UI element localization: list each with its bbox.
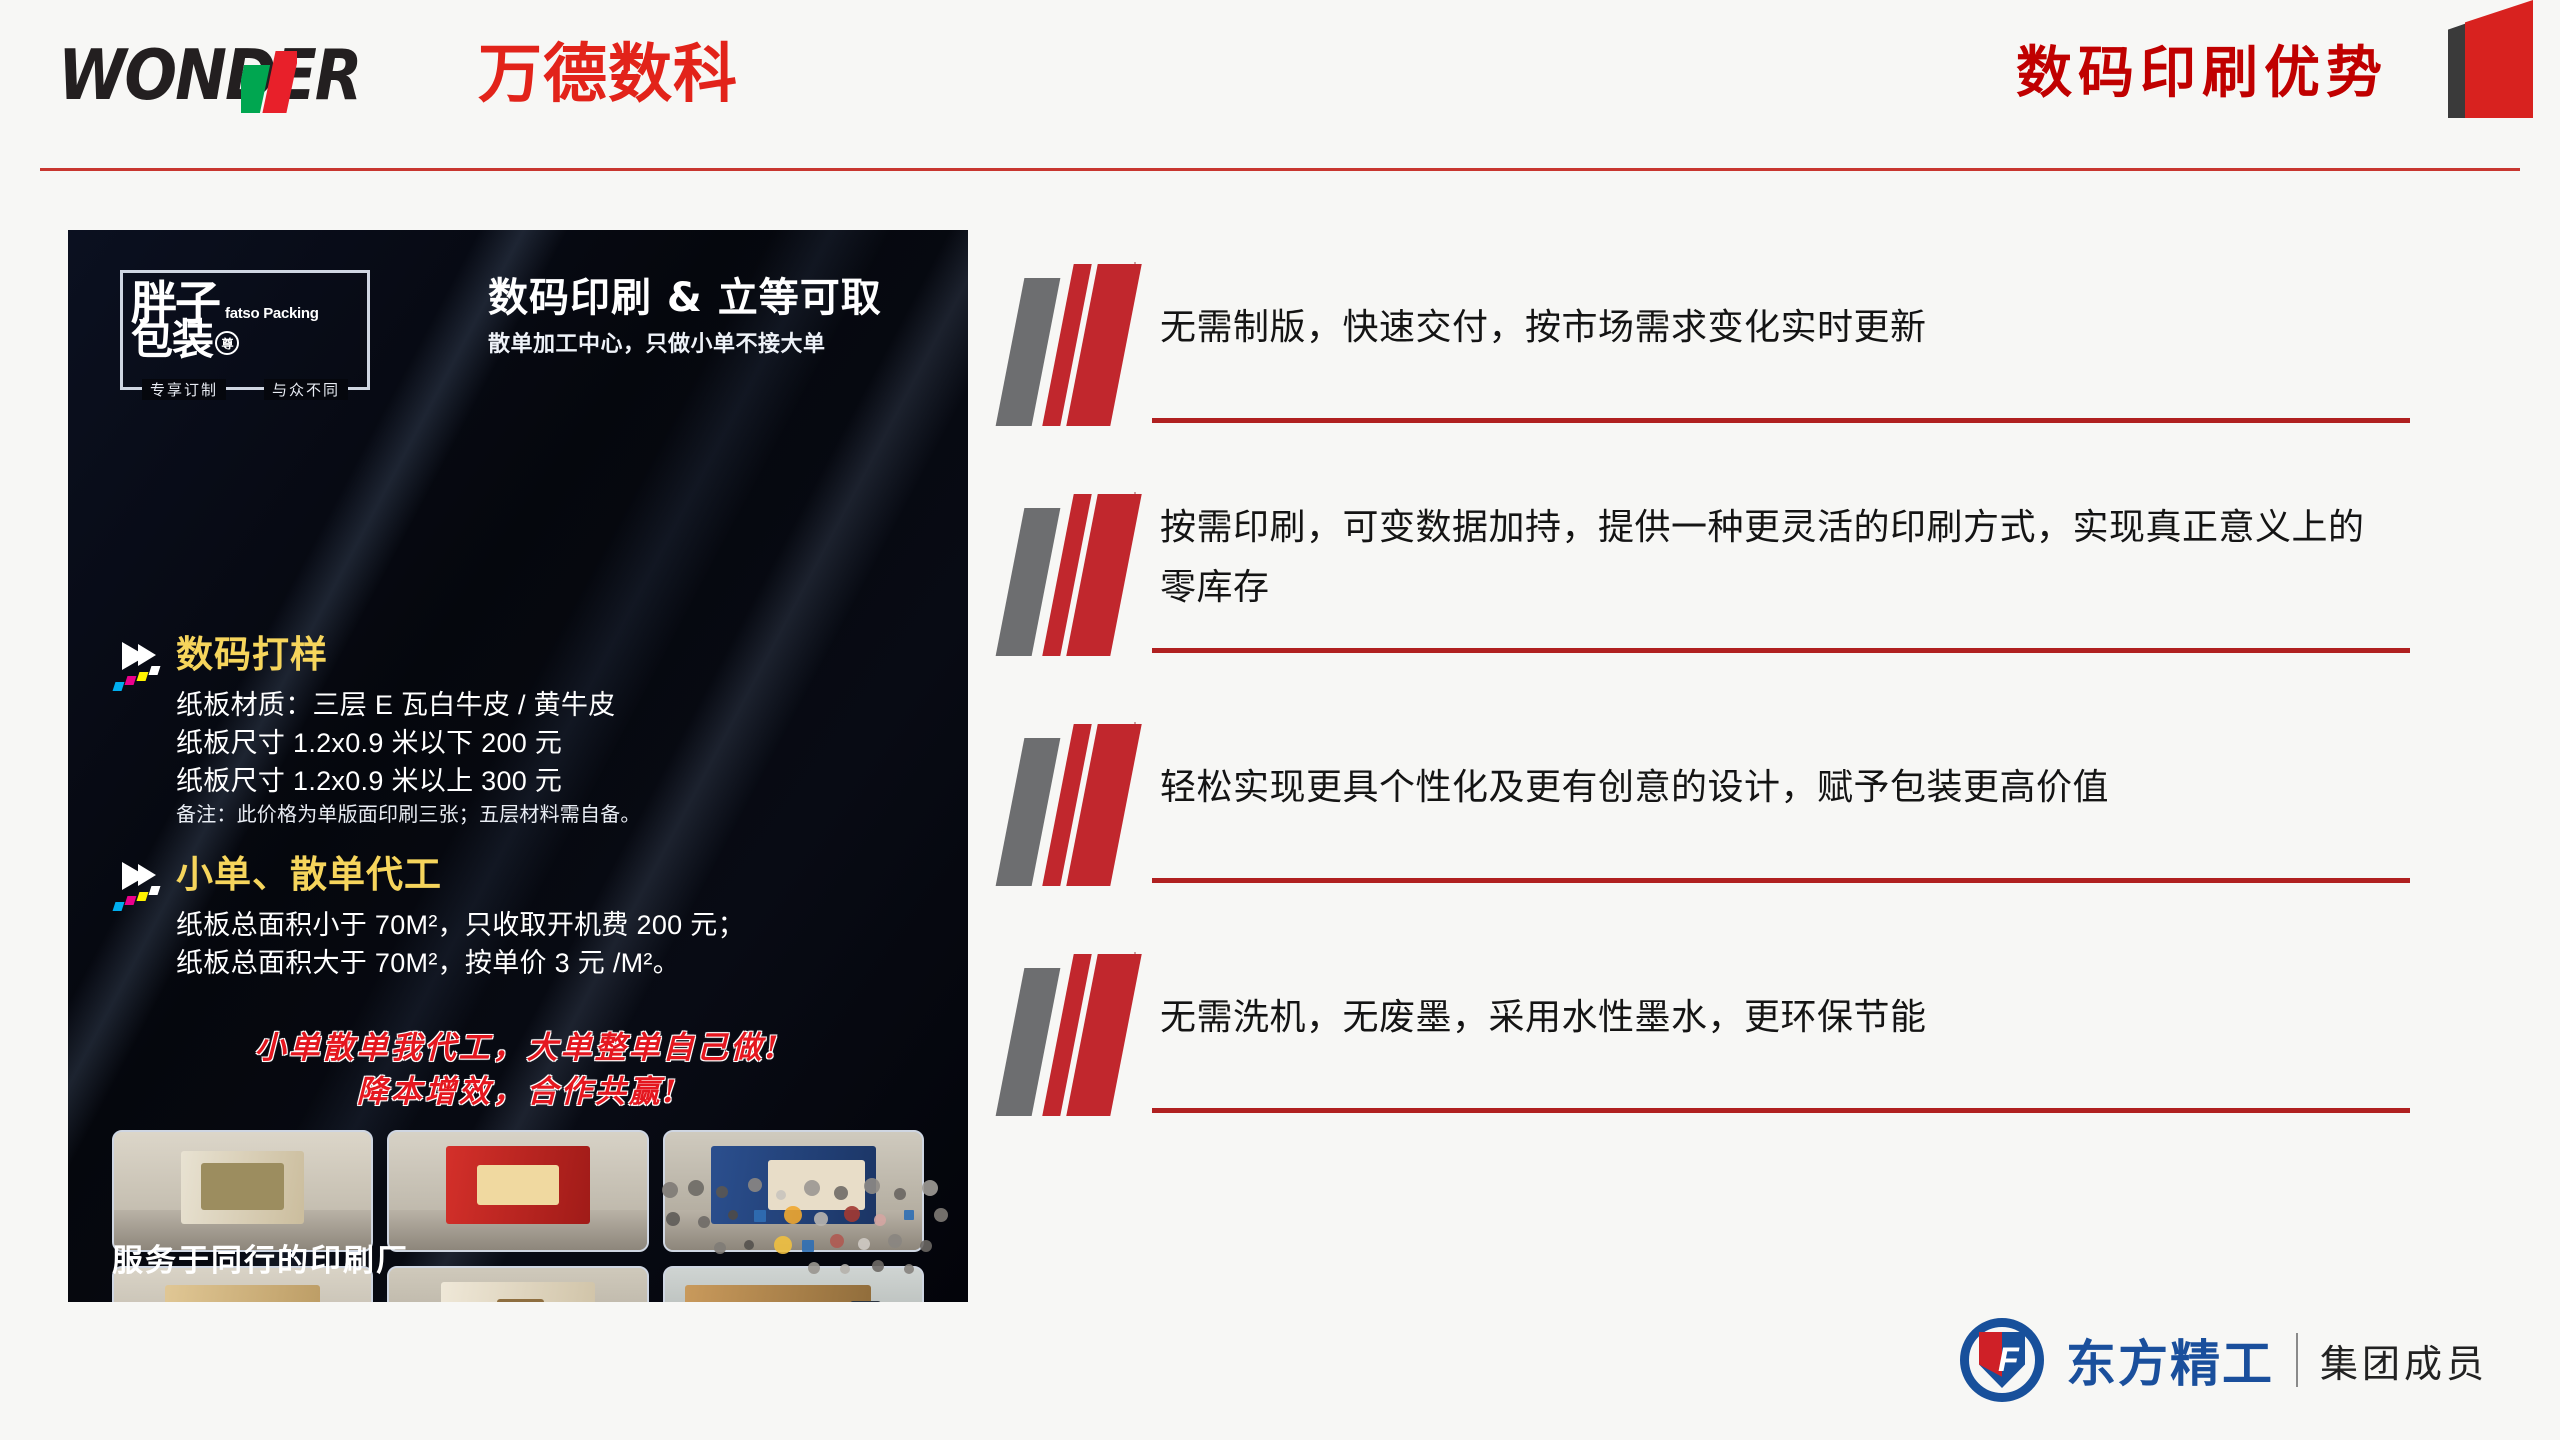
fatso-tagline-left: 专享订制 [142,379,226,400]
fatso-tagline-right: 与众不同 [264,379,348,400]
bullet-marker-icon-2 [1010,508,1150,658]
dot-white [149,666,161,675]
advantage-underline-4 [1152,1108,2410,1113]
fatso-logo-row-bottom: 包装尊 [131,317,239,363]
advantage-underline-2 [1152,648,2410,653]
poster-section-2-line-1: 纸板总面积小于 70M²，只收取开机费 200 元； [176,906,745,944]
dot-cyan [113,902,125,911]
arrow-chevron-inner [138,644,156,666]
header-divider [40,168,2520,171]
advantage-text-4: 无需洗机，无废墨，采用水性墨水，更环保节能 [1160,988,2400,1048]
fatso-logo-cn-bottom: 包装 [131,315,213,364]
poster-section-1-note: 备注：此价格为单版面印刷三张；五层材料需自备。 [176,800,641,830]
poster-section-1: 数码打样 纸板材质：三层 E 瓦白牛皮 / 黄牛皮 纸板尺寸 1.2x0.9 米… [176,632,641,830]
advantage-text-3: 轻松实现更具个性化及更有创意的设计，赋予包装更高价值 [1160,758,2400,818]
poster-section-2-line-2: 纸板总面积大于 70M²，按单价 3 元 /M²。 [176,944,745,982]
page-title: 数码印刷优势 [2016,38,2388,110]
cmyk-dots-2 [114,892,166,912]
poster-section-1-line-3: 纸板尺寸 1.2x0.9 米以上 300 元 [176,762,641,800]
poster-arrow-icon-1 [114,642,170,696]
advantage-item-1: 无需制版，快速交付，按市场需求变化实时更新 [1010,270,2430,500]
advantage-underline-3 [1152,878,2410,883]
group-logo-name: 东方精工 [2066,1324,2274,1396]
group-logo-subtitle: 集团成员 [2320,1333,2488,1388]
group-logo-letter: F [1998,1338,2018,1382]
group-logo: F 东方精工 集团成员 [1960,1318,2488,1402]
wonder-n-accent [241,51,297,113]
advantage-underline-1 [1152,418,2410,423]
group-logo-icon: F [1960,1318,2044,1402]
poster-section-1-heading: 数码打样 [176,632,641,678]
bullet-marker-icon-1 [1010,278,1150,428]
fatso-logo-taglines: 专享订制 与众不同 [123,379,367,400]
wonder-n-red-stroke [262,51,297,113]
dot-white [149,886,161,895]
poster-headline: 数码印刷 & 立等可取 [488,274,928,322]
dot-magenta [125,896,137,905]
poster-slogan-line-2: 降本增效，合作共赢! [68,1070,968,1114]
poster-subhead: 散单加工中心，只做小单不接大单 [488,330,928,358]
poster-dot-pattern [658,1176,958,1296]
advantage-item-2: 按需印刷，可变数据加持，提供一种更灵活的印刷方式，实现真正意义上的零库存 [1010,500,2430,730]
dot-magenta [125,676,137,685]
dot-cyan [113,682,125,691]
advantage-item-4: 无需洗机，无废墨，采用水性墨水，更环保节能 [1010,960,2430,1190]
dot-yellow [137,672,149,681]
poster-section-2-heading: 小单、散单代工 [176,852,745,898]
poster-section-2: 小单、散单代工 纸板总面积小于 70M²，只收取开机费 200 元； 纸板总面积… [176,852,745,982]
fatso-packing-logo: 胖子 fatso Packing 包装尊 专享订制 与众不同 [120,270,370,390]
arrow-chevron-inner [138,864,156,886]
poster-arrow-icon-2 [114,862,170,916]
product-photo [387,1266,648,1302]
advantages-list: 无需制版，快速交付，按市场需求变化实时更新 按需印刷，可变数据加持，提供一种更灵… [1010,270,2430,1190]
wonder-wordmark: WONDER [58,48,478,110]
poster-section-1-line-2: 纸板尺寸 1.2x0.9 米以下 200 元 [176,724,641,762]
poster-footer-text: 服务于同行的印刷厂 [112,1235,409,1280]
poster-title-block: 数码印刷 & 立等可取 散单加工中心，只做小单不接大单 [488,274,928,358]
advantage-item-3: 轻松实现更具个性化及更有创意的设计，赋予包装更高价值 [1010,730,2430,960]
advantage-text-2: 按需印刷，可变数据加持，提供一种更灵活的印刷方式，实现真正意义上的零库存 [1160,498,2400,618]
poster-image: 胖子 fatso Packing 包装尊 专享订制 与众不同 数码印刷 & 立等… [68,230,968,1302]
cmyk-dots-1 [114,672,166,692]
fatso-logo-badge: 尊 [215,331,239,355]
poster-slogan: 小单散单我代工，大单整单自己做! 降本增效，合作共赢! [68,1026,968,1114]
slide-canvas: WONDER 万德数科 数码印刷优势 胖子 fatso Packing 包装尊 … [0,0,2560,1440]
advantage-text-1: 无需制版，快速交付，按市场需求变化实时更新 [1160,298,2400,358]
poster-slogan-line-1: 小单散单我代工，大单整单自己做! [68,1026,968,1070]
product-photo [112,1130,373,1252]
poster-section-1-line-1: 纸板材质：三层 E 瓦白牛皮 / 黄牛皮 [176,686,641,724]
bullet-marker-icon-4 [1010,968,1150,1118]
group-logo-divider [2296,1333,2298,1387]
dot-yellow [137,892,149,901]
slide-header: WONDER 万德数科 数码印刷优势 [0,0,2560,176]
product-photo [387,1130,648,1252]
brand-chinese-name: 万德数科 [478,38,738,112]
wonder-wordmark-text: WONDER [58,41,361,110]
fatso-logo-en: fatso Packing [225,305,319,327]
bullet-marker-icon-3 [1010,738,1150,888]
